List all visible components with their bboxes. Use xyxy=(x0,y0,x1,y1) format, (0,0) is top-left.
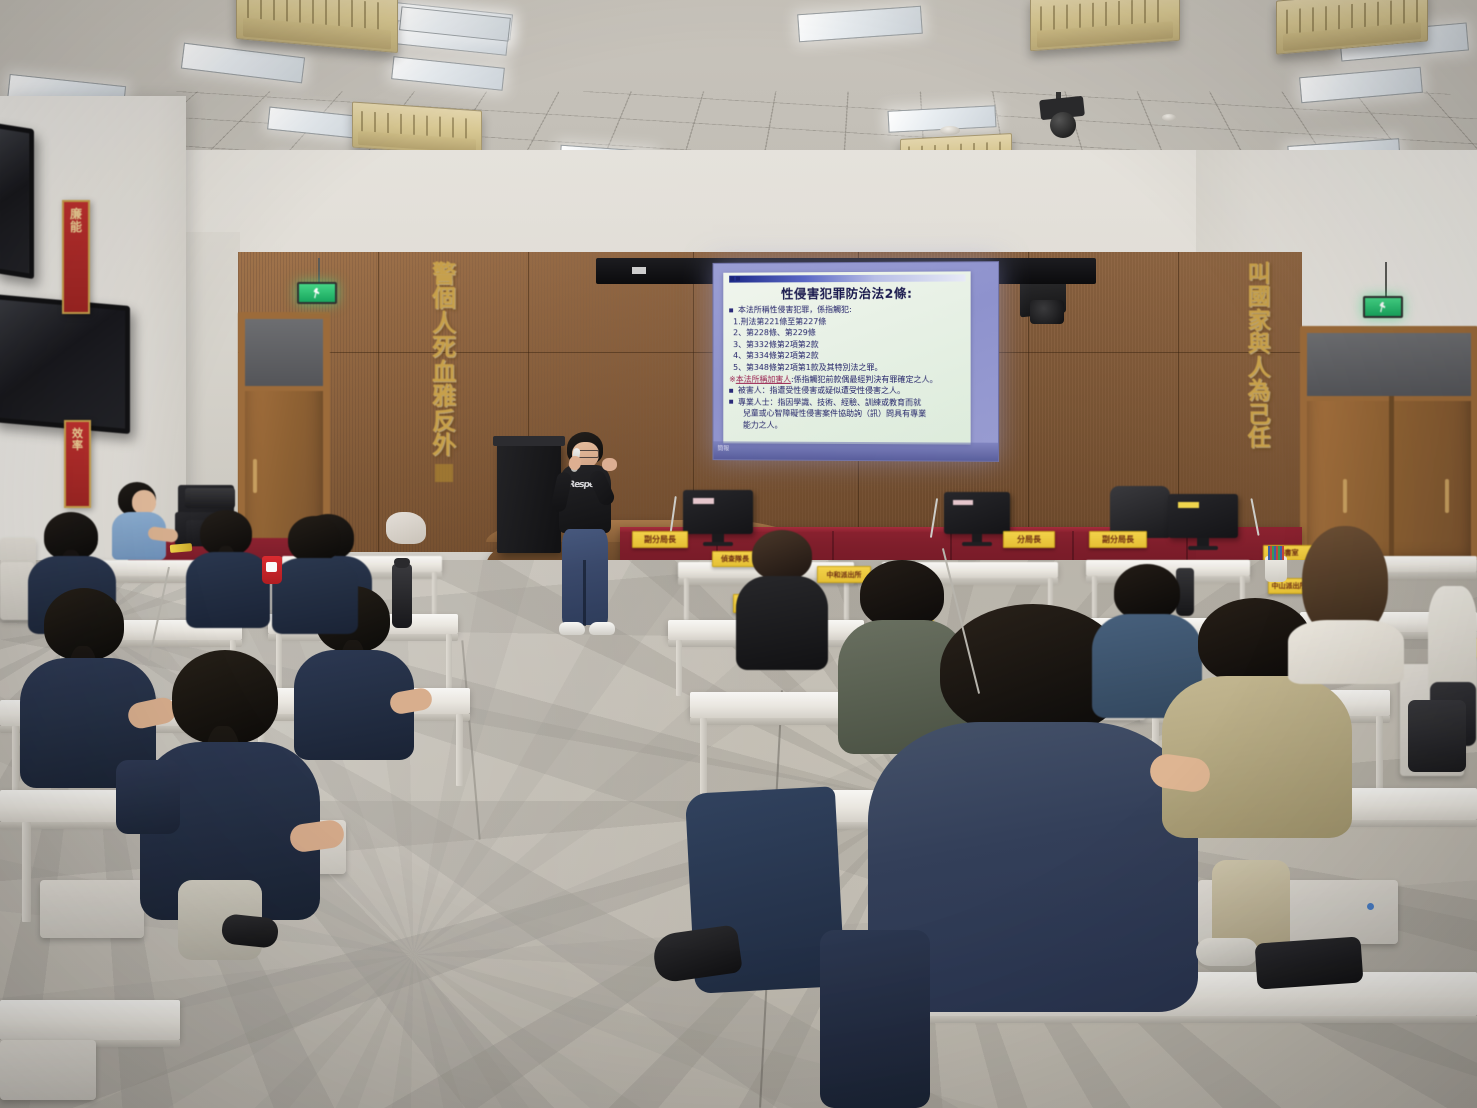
banner-char: 能 xyxy=(70,221,82,234)
presenter: Respect xyxy=(548,432,634,656)
audience-member xyxy=(20,588,156,788)
chair[interactable] xyxy=(0,1040,96,1100)
gold-calligraphy-banner-right: 叫 國 家 與 人 為 己 任 xyxy=(1244,262,1274,450)
monitor-base xyxy=(1188,546,1219,550)
bottle-cap xyxy=(394,558,410,568)
door-handle[interactable] xyxy=(253,459,257,493)
name-placard: 副分局長 xyxy=(1089,531,1147,548)
bag xyxy=(1255,936,1364,989)
audience-member xyxy=(186,510,270,628)
av-speaker xyxy=(185,488,235,508)
desk-leg xyxy=(22,822,31,922)
banner-char: 國 xyxy=(1248,285,1271,308)
exit-sign-cable xyxy=(1385,262,1387,298)
emergency-exit-sign xyxy=(297,282,337,304)
slide-decorative-bar xyxy=(729,274,965,282)
door-handle[interactable] xyxy=(1445,479,1449,513)
hair xyxy=(288,516,340,562)
desk-monitor xyxy=(683,490,753,534)
running-man-icon xyxy=(1379,302,1388,313)
presenter-left-shoe xyxy=(559,622,585,635)
tv-screen xyxy=(0,129,29,274)
banner-seal xyxy=(435,464,453,482)
red-calligraphy-scroll-upper: 廉 能 xyxy=(62,200,90,314)
wall-television xyxy=(0,123,34,279)
banner-char: 外 xyxy=(432,433,456,457)
lecture-hall-photo: 性侵害犯罪防治法2條: 本法所稱性侵害犯罪，係指觸犯: 1.刑法第221條至第2… xyxy=(0,0,1477,1108)
banner-char: 任 xyxy=(1248,426,1271,449)
seated-legs xyxy=(116,760,180,834)
slide-bullet: 兒童或心智障礙性侵害案件協助詢（訊）問具有專業 xyxy=(729,408,965,420)
ac-vent-face xyxy=(1037,22,1173,48)
slide-item: 1.刑法第221條至第227條 xyxy=(729,315,965,327)
banner-char: 率 xyxy=(72,440,83,452)
torso xyxy=(736,576,828,670)
wall-speaker-cone xyxy=(1030,300,1064,324)
jeans-seam xyxy=(583,560,586,626)
banner-char: 家 xyxy=(1248,309,1271,332)
security-camera-dome xyxy=(1050,112,1076,138)
seated-legs xyxy=(820,930,930,1108)
pens xyxy=(1268,546,1284,560)
monitor-label xyxy=(953,500,973,506)
slide-note-underlined: 本法所稱加害人 xyxy=(736,374,791,383)
slide-item: 4、第334條第2項第2款 xyxy=(729,350,965,362)
desk-leg xyxy=(446,634,452,690)
banner-char: 人 xyxy=(1248,356,1271,379)
desk-leg xyxy=(432,572,437,616)
desk-leg xyxy=(676,640,682,696)
banner-char: 叫 xyxy=(1248,262,1271,285)
wall-television xyxy=(0,294,130,434)
student-desk xyxy=(0,1000,180,1040)
exit-sign-cable xyxy=(318,258,320,284)
shoe xyxy=(1196,938,1258,966)
slide-bullet: 被害人：指遭受性侵害或疑似遭受性侵害之人。 xyxy=(729,385,965,397)
smoke-detector-icon xyxy=(940,126,960,135)
monitor-label xyxy=(1178,502,1199,508)
chair-marker-dot xyxy=(1367,903,1374,910)
hair xyxy=(752,530,812,580)
door-handle[interactable] xyxy=(1343,479,1347,513)
audience-member xyxy=(272,516,358,634)
banner-char: 效 xyxy=(72,428,83,440)
chair[interactable] xyxy=(40,880,144,938)
running-man-icon xyxy=(313,288,322,299)
ceiling-light-panel xyxy=(181,43,305,84)
monitor-base xyxy=(962,542,991,546)
ac-vent-face xyxy=(243,18,390,49)
monitor-base xyxy=(703,542,734,546)
smoke-detector-icon xyxy=(1162,114,1176,121)
air-conditioner-unit xyxy=(1030,0,1180,51)
air-conditioner-unit xyxy=(352,101,482,156)
slide-item: 3、第332條第2項第2款 xyxy=(729,339,965,351)
slide-item: 2、第228條、第229條 xyxy=(729,327,965,339)
air-conditioner-unit xyxy=(236,0,398,53)
desk-leg xyxy=(456,714,463,786)
tv-screen xyxy=(0,299,125,428)
banner-char: 為 xyxy=(1248,379,1271,402)
presenter-right-shoe xyxy=(589,622,615,635)
door-transom-glass xyxy=(1307,333,1471,401)
operator-head xyxy=(132,490,156,514)
red-calligraphy-scroll-lower: 效 率 xyxy=(64,420,91,508)
slide-title: 性侵害犯罪防治法2條: xyxy=(729,282,965,302)
banner-char: 與 xyxy=(1248,332,1271,355)
torso xyxy=(186,552,270,628)
ceiling-light-panel xyxy=(797,6,923,43)
cup-logo xyxy=(266,562,277,572)
emergency-exit-sign xyxy=(1363,296,1403,318)
slide-note-rest: :係指觸犯前款偶最經判決有罪確定之人。 xyxy=(791,375,938,384)
desk-leg xyxy=(684,578,689,620)
desk-leg xyxy=(1376,716,1383,792)
housing-label xyxy=(632,267,646,274)
banner-char: 己 xyxy=(1248,403,1271,426)
slide-taskbar: 簡報 xyxy=(713,441,998,461)
slide-bullet: 能力之人。 xyxy=(729,419,965,432)
slide-note: ※本法所稱加害人:係指觸犯前款偶最經判決有罪確定之人。 xyxy=(729,373,965,385)
name-placard: 分局長 xyxy=(1003,531,1055,548)
torso xyxy=(272,558,358,634)
gold-calligraphy-banner-left: 警 個 人 死 血 雅 反 外 xyxy=(428,262,460,482)
desk-monitor xyxy=(1168,494,1238,538)
slide-lead-bullet: 本法所稱性侵害犯罪，係指觸犯: xyxy=(729,304,965,316)
audience-member xyxy=(1288,526,1404,684)
audience-member xyxy=(736,530,828,668)
presenter-right-hand xyxy=(602,458,617,471)
slide-item: 5、第348條第2項第1款及其特別法之罪。 xyxy=(729,362,965,374)
slide-bullet: 專業人士：指因學識、技術、經驗、訓練或教育而就 xyxy=(729,396,965,408)
torso xyxy=(1288,620,1404,684)
slide-content: 性侵害犯罪防治法2條: 本法所稱性侵害犯罪，係指觸犯: 1.刑法第221條至第2… xyxy=(723,271,970,444)
monitor-label xyxy=(693,498,714,504)
projection-screen: 性侵害犯罪防治法2條: 本法所稱性侵害犯罪，係指觸犯: 1.刑法第221條至第2… xyxy=(712,261,999,462)
door-transom-glass xyxy=(245,319,323,391)
name-placard: 副分局長 xyxy=(632,531,688,548)
torso xyxy=(1428,586,1477,694)
water-bottle xyxy=(392,564,412,628)
banner-char: 廉 xyxy=(70,208,82,221)
plastic-bag xyxy=(386,512,426,544)
ceiling-light-panel xyxy=(391,56,505,91)
desk-leg xyxy=(700,718,707,794)
desk-monitor xyxy=(944,492,1010,534)
bag xyxy=(1408,700,1466,772)
